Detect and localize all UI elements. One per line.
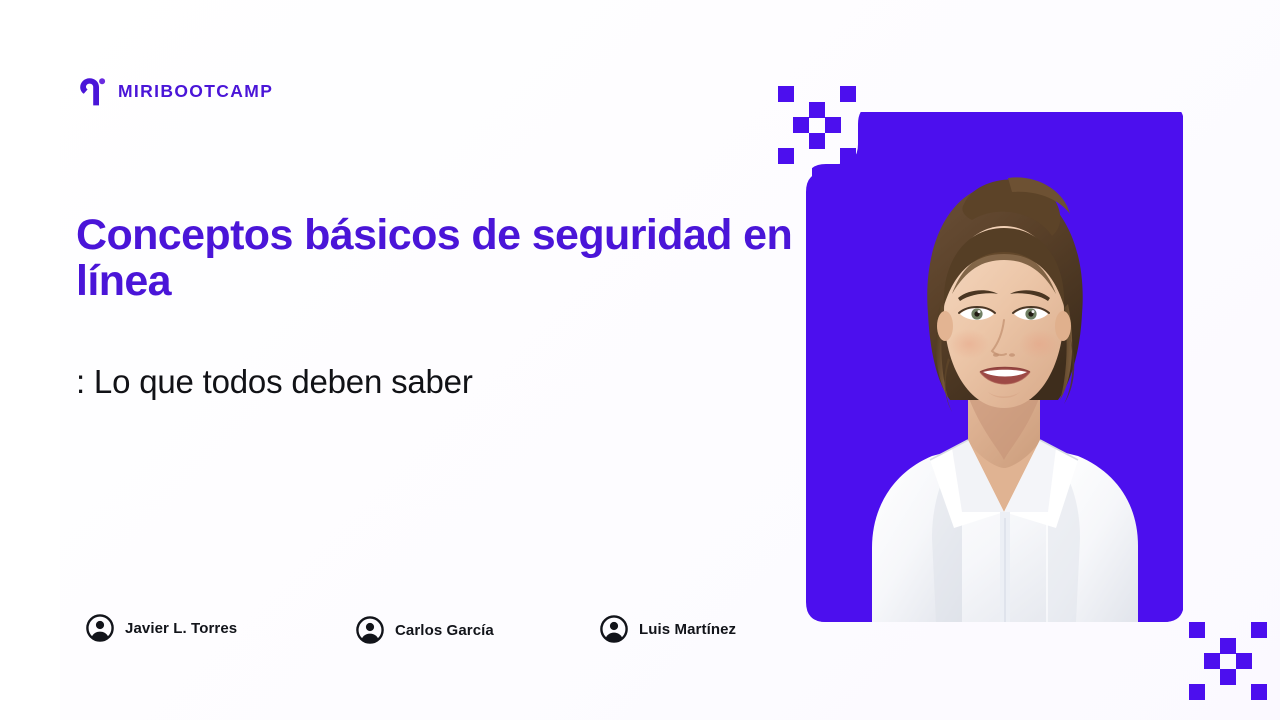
author-item: Javier L. Torres: [86, 613, 237, 643]
pixel-pattern-bottom-right: [1189, 622, 1267, 700]
author-name: Carlos García: [395, 623, 494, 638]
presentation-slide: MIRIBOOTCAMP Conceptos básicos de seguri…: [0, 0, 1280, 720]
portrait-panel: [806, 112, 1183, 622]
author-name: Javier L. Torres: [125, 621, 237, 636]
page-title: Conceptos básicos de seguridad en línea: [76, 212, 806, 305]
author-name: Luis Martínez: [639, 622, 736, 637]
author-list: Javier L. Torres Carlos García Luis Mart…: [86, 608, 786, 654]
page-subtitle: : Lo que todos deben saber: [76, 362, 776, 402]
author-item: Luis Martínez: [600, 614, 736, 644]
miribootcamp-swirl-logo-icon: [77, 77, 107, 107]
person-avatar-icon: [86, 614, 114, 642]
person-avatar-icon: [600, 615, 628, 643]
person-avatar-icon: [356, 616, 384, 644]
pixel-pattern-top-left: [778, 86, 856, 164]
portrait-photo: [806, 112, 1183, 622]
brand-name: MIRIBOOTCAMP: [118, 83, 273, 101]
brand-logo: MIRIBOOTCAMP: [77, 76, 273, 108]
author-item: Carlos García: [356, 615, 494, 645]
portrait-illustration: [812, 112, 1183, 622]
